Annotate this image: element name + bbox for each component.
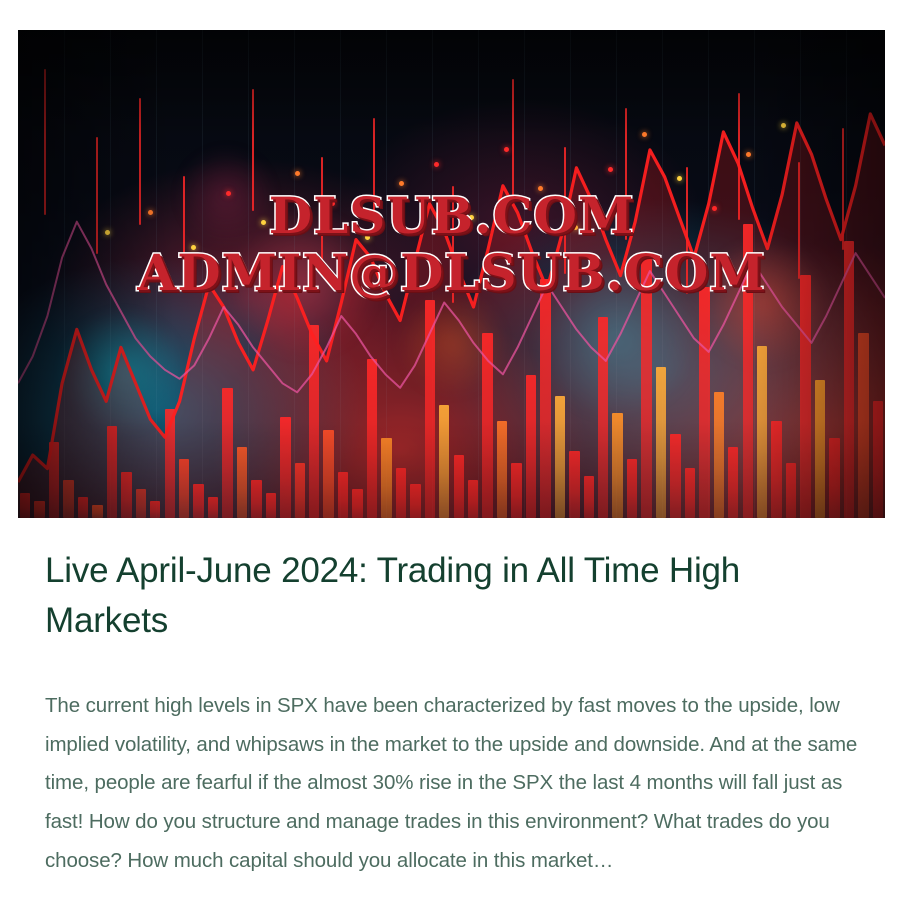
card-excerpt: The current high levels in SPX have been… <box>45 645 860 880</box>
course-card-page: DLSUB.COM ADMIN@DLSUB.COM Live April-Jun… <box>0 0 924 911</box>
card-content: Live April-June 2024: Trading in All Tim… <box>45 546 860 880</box>
hero-price-area <box>18 114 885 518</box>
hero-line-chart-layer <box>18 30 885 518</box>
hero-image[interactable]: DLSUB.COM ADMIN@DLSUB.COM <box>18 30 885 518</box>
page-title[interactable]: Live April-June 2024: Trading in All Tim… <box>45 546 860 645</box>
